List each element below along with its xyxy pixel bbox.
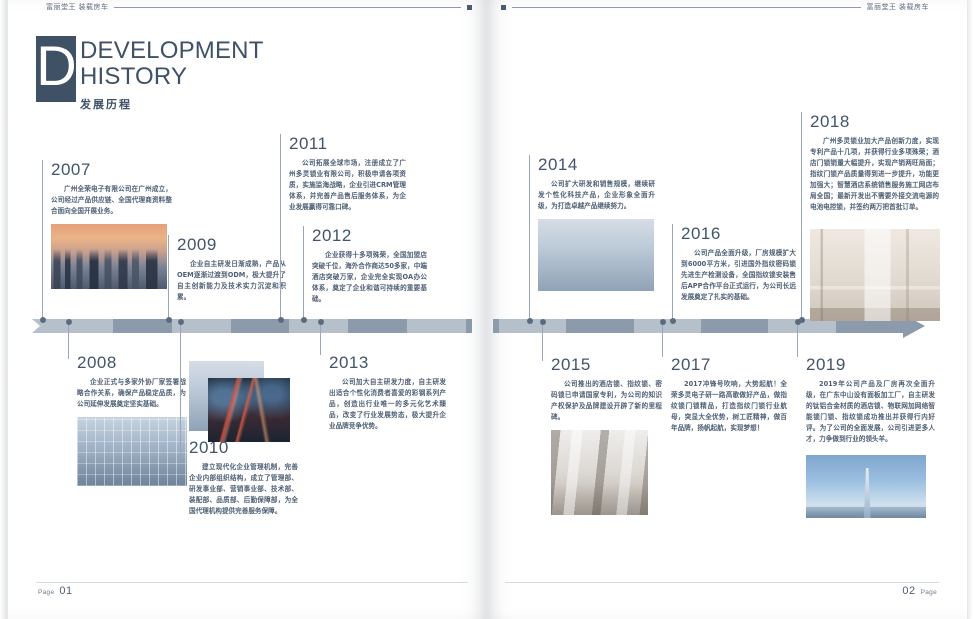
timeline-entry-2012[interactable]: 2012 企业获得十多项殊荣，全国加盟店突破千位，海外合作商达50多家，中端酒店… (303, 226, 427, 305)
title-dropcap: D (36, 36, 76, 102)
entry-year: 2008 (77, 353, 186, 373)
title-line-2: HISTORY (80, 64, 264, 90)
timeline-segment (634, 319, 701, 333)
timeline-segment (348, 319, 407, 333)
entry-dot (301, 317, 307, 323)
entry-text: 广州全荣电子有限公司在广州成立，公司经过产品供应链、全国代理商资料整合面向全国开… (51, 184, 172, 217)
entry-dot (318, 319, 324, 325)
running-head-right: 富丽堂王 装载房车 (501, 0, 929, 14)
running-head-text: 富丽堂王 装载房车 (867, 4, 929, 11)
title-subtitle: 发展历程 (80, 96, 264, 112)
running-head-square (501, 5, 506, 10)
timeline-segment (113, 319, 172, 333)
timeline-entry-2009[interactable]: 2009 企业自主研发日渐成熟，产品从OEM逐渐过渡到ODM，极大提升了自主创新… (168, 235, 286, 303)
entry-rule (180, 321, 181, 453)
entry-year: 2015 (551, 355, 662, 375)
page-edge-strip (967, 0, 973, 619)
entry-text: 2019年公司产品及厂房再次全面升级，在广东中山设有面板加工厂，自主研发的钛铝合… (806, 379, 935, 445)
entry-photo (551, 430, 648, 515)
entry-rule (542, 321, 543, 361)
entry-text: 公司加大自主研发力度，自主研发出适合个性化消费者喜爱的彩钢系列产品，创造出行业唯… (329, 377, 446, 432)
hotel-corridor-image (551, 430, 648, 515)
running-head-square (467, 5, 472, 10)
entry-text: 公司拓展全球市场，注册成立了广州多灵锁业有限公司，积极申请各项资质，实施监海战略… (289, 158, 406, 213)
entry-rule (68, 321, 69, 359)
interior-room-image (810, 229, 940, 321)
entry-text: 公司推出的酒店锁、指纹锁、密码锁已申请国家专利，为公司的知识产权保护及品牌建设开… (551, 379, 662, 423)
document-spread: 富丽堂王 装载房车 D DEVELOPMENT HISTORY 发展历程 (0, 0, 973, 619)
canton-tower-image (806, 455, 926, 518)
night-city-road-image (208, 378, 290, 442)
business-team-silhouette-image (77, 417, 187, 486)
entry-text: 2017冲锋号吹响，大势起航！全荣多灵电子研一路高歌做好产品，做指纹锁门锁精品，… (671, 379, 787, 434)
timeline-segment (466, 319, 472, 333)
entry-photo (806, 455, 926, 518)
footer-rule (36, 582, 468, 583)
entry-year: 2019 (806, 355, 935, 375)
timeline-entry-2007[interactable]: 2007 广州全荣电子有限公司在广州成立，公司经过产品供应链、全国代理商资料整合… (42, 160, 172, 289)
footer-right: 02 Page (902, 585, 937, 597)
entry-rule (42, 160, 43, 320)
sunset-city-skyline-image (51, 224, 167, 289)
entry-rule (672, 224, 673, 321)
modern-city-towers-image (538, 219, 654, 291)
timeline-entry-2017[interactable]: 2017 2017冲锋号吹响，大势起航！全荣多灵电子研一路高歌做好产品，做指纹锁… (662, 333, 787, 434)
entry-rule (801, 112, 802, 320)
entry-year: 2016 (681, 224, 796, 244)
entry-year: 2013 (329, 353, 446, 373)
entry-dot (670, 318, 676, 324)
entry-dot (278, 317, 284, 323)
entry-text: 企业自主研发日渐成熟，产品从OEM逐渐过渡到ODM，极大提升了自主创新能力及技术… (177, 259, 286, 303)
page-title: D DEVELOPMENT HISTORY 发展历程 (36, 36, 264, 112)
running-head-text: 富丽堂王 装载房车 (46, 4, 108, 11)
entry-rule (168, 235, 169, 320)
entry-dot (166, 317, 172, 323)
timeline-entry-2015[interactable]: 2015 公司推出的酒店锁、指纹锁、密码锁已申请国家专利，为公司的知识产权保护及… (542, 333, 662, 515)
timeline-bar-right (493, 319, 925, 333)
entry-year: 2014 (538, 155, 655, 175)
entry-photo (77, 417, 187, 486)
running-head-left: 富丽堂王 装载房车 (46, 0, 472, 14)
entry-year: 2011 (289, 134, 406, 154)
entry-photo-interior (810, 229, 940, 321)
timeline-segment (836, 319, 903, 333)
page-left: 富丽堂王 装载房车 D DEVELOPMENT HISTORY 发展历程 (0, 0, 487, 619)
entry-text: 企业正式与多家外协厂家签署战略合作关系，确保产品稳定品质，为公司延伸发展奠定坚实… (77, 377, 186, 410)
footer-page-number: 01 (59, 585, 72, 597)
timeline-entry-2014[interactable]: 2014 公司扩大研发和销售规模，继续研发个性化科技产品，企业形象全面升级，为打… (529, 155, 655, 291)
timeline-arrowhead (903, 319, 925, 333)
entry-year: 2018 (810, 112, 939, 132)
timeline-entry-2016[interactable]: 2016 公司产品全面升级，厂房规模扩大到6000平方米，引进国外指纹密码锁先进… (672, 224, 796, 303)
entry-rule (529, 155, 530, 321)
entry-dot (40, 317, 46, 323)
entry-dot (660, 319, 666, 325)
entry-text: 广州多灵锁业加大产品创新力度，实现专利产品十几项，并获得行业多项殊荣；酒店门锁销… (810, 136, 939, 213)
entry-rule (320, 321, 321, 355)
timeline-segment (566, 319, 633, 333)
footer-page-number: 02 (902, 585, 915, 597)
footer-left: Page 01 (38, 585, 73, 597)
timeline-segment (701, 319, 768, 333)
timeline-entry-2008[interactable]: 2008 企业正式与多家外协厂家签署战略合作关系，确保产品稳定品质，为公司延伸发… (68, 333, 186, 486)
entry-dot (527, 318, 533, 324)
timeline-entry-2019[interactable]: 2019 2019年公司产品及厂房再次全面升级，在广东中山设有面板加工厂，自主研… (797, 333, 935, 518)
footer-word: Page (38, 589, 54, 596)
timeline-bar-left (32, 319, 472, 333)
entry-rule (303, 226, 304, 320)
entry-year: 2012 (312, 226, 427, 246)
entry-photo-night-road (208, 378, 290, 442)
entry-text: 公司产品全面升级，厂房规模扩大到6000平方米，引进国外指纹密码锁先进生产检测设… (681, 248, 796, 303)
timeline-segment (54, 319, 113, 333)
page-edge-strip (0, 0, 8, 619)
entry-year: 2017 (671, 355, 787, 375)
timeline-segment (499, 319, 566, 333)
entry-text: 公司扩大研发和销售规模，继续研发个性化科技产品，企业形象全面升级，为打造卓越产品… (538, 179, 655, 212)
entry-photo (51, 224, 167, 289)
timeline-segment (407, 319, 466, 333)
entry-dot (66, 319, 72, 325)
footer-word: Page (921, 589, 937, 596)
timeline-entry-2018[interactable]: 2018 广州多灵锁业加大产品创新力度，实现专利产品十几项，并获得行业多项殊荣；… (801, 112, 939, 213)
title-line-1: DEVELOPMENT (80, 38, 264, 64)
entry-rule (797, 321, 798, 357)
footer-rule (505, 582, 939, 583)
entry-text: 企业获得十多项殊荣，全国加盟店突破千位，海外合作商达50多家，中端酒店突破万家，… (312, 250, 427, 305)
entry-text: 建立现代化企业管理机制，完善企业内部组织结构，成立了管理部、研发事业部、营销事业… (189, 462, 298, 517)
running-head-rule (114, 7, 461, 8)
entry-year: 2009 (177, 235, 286, 255)
entry-year: 2007 (51, 160, 172, 180)
entry-dot (795, 319, 801, 325)
entry-photo (538, 219, 654, 291)
running-head-rule (512, 7, 861, 8)
entry-rule (662, 321, 663, 357)
page-right: 富丽堂王 装载房车 2014 公司扩大研发和销售规模，继续研发个性化科技产品，企… (487, 0, 973, 619)
timeline-entry-2011[interactable]: 2011 公司拓展全球市场，注册成立了广州多灵锁业有限公司，积极申请各项资质，实… (280, 134, 406, 213)
entry-dot (178, 319, 184, 325)
entry-rule (280, 134, 281, 320)
entry-dot (540, 319, 546, 325)
timeline-entry-2013[interactable]: 2013 公司加大自主研发力度，自主研发出适合个性化消费者喜爱的彩钢系列产品，创… (320, 333, 446, 432)
